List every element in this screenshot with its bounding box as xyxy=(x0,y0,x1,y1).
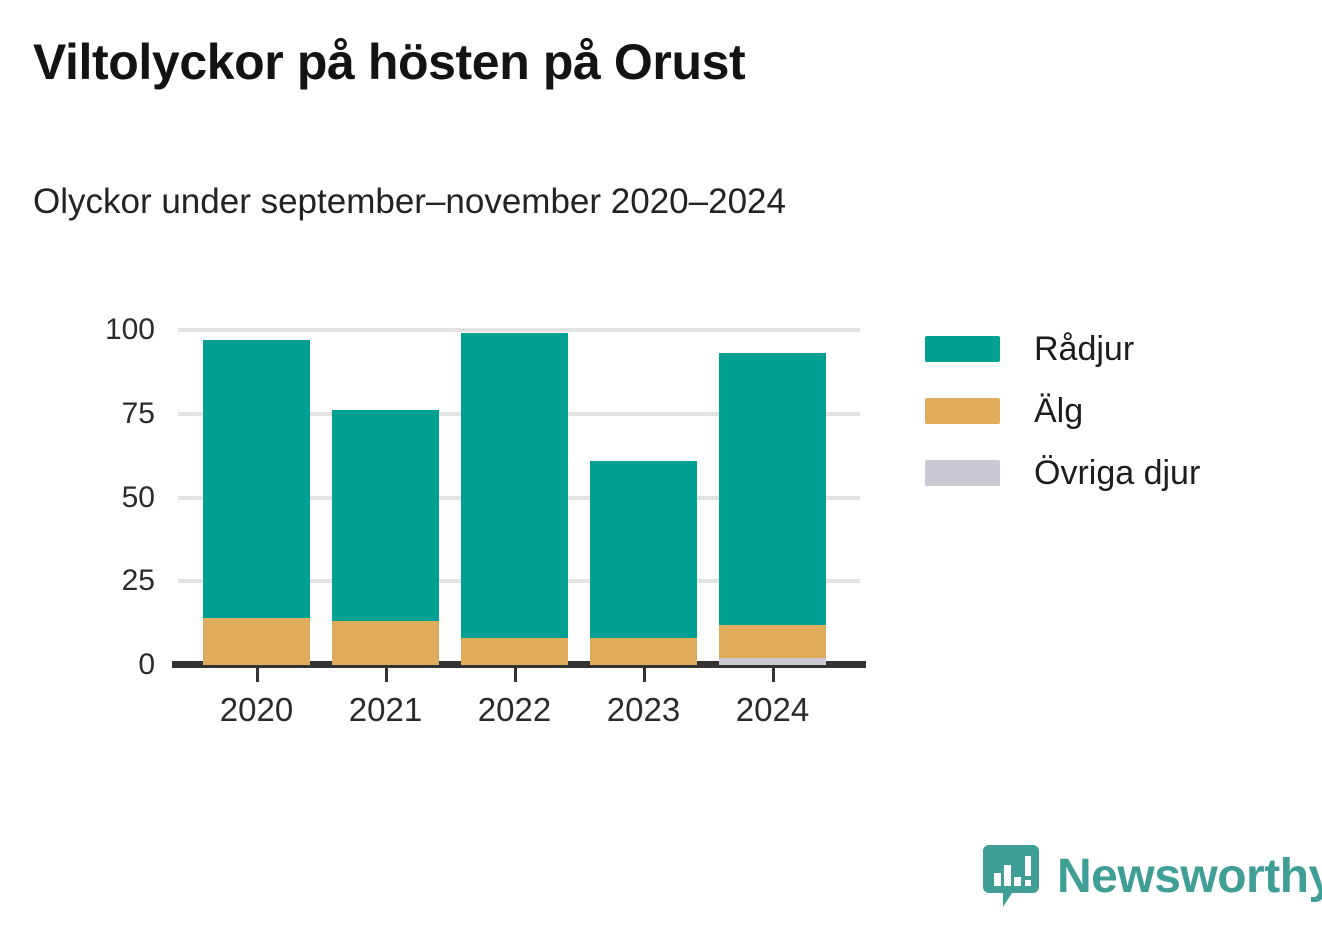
legend-item-rådjur[interactable]: Rådjur xyxy=(925,318,1200,380)
x-tick xyxy=(643,665,646,682)
bar-segment-rådjur[interactable] xyxy=(590,461,697,639)
bar-segment-rådjur[interactable] xyxy=(461,333,568,638)
y-tick-label: 100 xyxy=(35,313,155,347)
bar-2021[interactable] xyxy=(332,410,439,665)
bar-segment-älg[interactable] xyxy=(332,621,439,665)
chart-legend: RådjurÄlgÖvriga djur xyxy=(925,318,1200,504)
x-tick xyxy=(772,665,775,682)
legend-label: Älg xyxy=(1034,392,1083,431)
x-tick xyxy=(514,665,517,682)
logo-wordmark: Newsworthy xyxy=(1057,849,1322,904)
bar-segment-rådjur[interactable] xyxy=(203,340,310,618)
legend-label: Rådjur xyxy=(1034,330,1134,369)
legend-label: Övriga djur xyxy=(1034,454,1200,493)
bar-segment-älg[interactable] xyxy=(203,618,310,665)
legend-swatch-icon xyxy=(925,460,1000,486)
legend-swatch-icon xyxy=(925,336,1000,362)
newsworthy-logo: Newsworthy xyxy=(983,845,1322,907)
bar-chart: 0255075100 20202021202220232024 xyxy=(0,0,900,939)
bar-segment-rådjur[interactable] xyxy=(719,353,826,624)
legend-item-övriga-djur[interactable]: Övriga djur xyxy=(925,442,1200,504)
bar-segment-älg[interactable] xyxy=(461,638,568,665)
x-axis-label-2024: 2024 xyxy=(693,691,853,729)
y-tick-label: 0 xyxy=(35,648,155,682)
bar-2022[interactable] xyxy=(461,333,568,665)
chart-page: Viltolyckor på hösten på Orust Olyckor u… xyxy=(0,0,1322,939)
plot-area xyxy=(172,330,872,665)
bar-2020[interactable] xyxy=(203,340,310,665)
bar-segment-övriga-djur[interactable] xyxy=(719,658,826,665)
legend-swatch-icon xyxy=(925,398,1000,424)
legend-item-älg[interactable]: Älg xyxy=(925,380,1200,442)
x-tick xyxy=(385,665,388,682)
bar-2023[interactable] xyxy=(590,461,697,665)
bar-2024[interactable] xyxy=(719,353,826,665)
y-tick-label: 75 xyxy=(35,397,155,431)
y-tick-label: 25 xyxy=(35,564,155,598)
bar-segment-älg[interactable] xyxy=(590,638,697,665)
bar-segment-rådjur[interactable] xyxy=(332,410,439,621)
y-tick-label: 50 xyxy=(35,481,155,515)
bar-segment-älg[interactable] xyxy=(719,625,826,659)
newsworthy-bar-chart-bubble-icon xyxy=(983,845,1039,907)
x-tick xyxy=(256,665,259,682)
